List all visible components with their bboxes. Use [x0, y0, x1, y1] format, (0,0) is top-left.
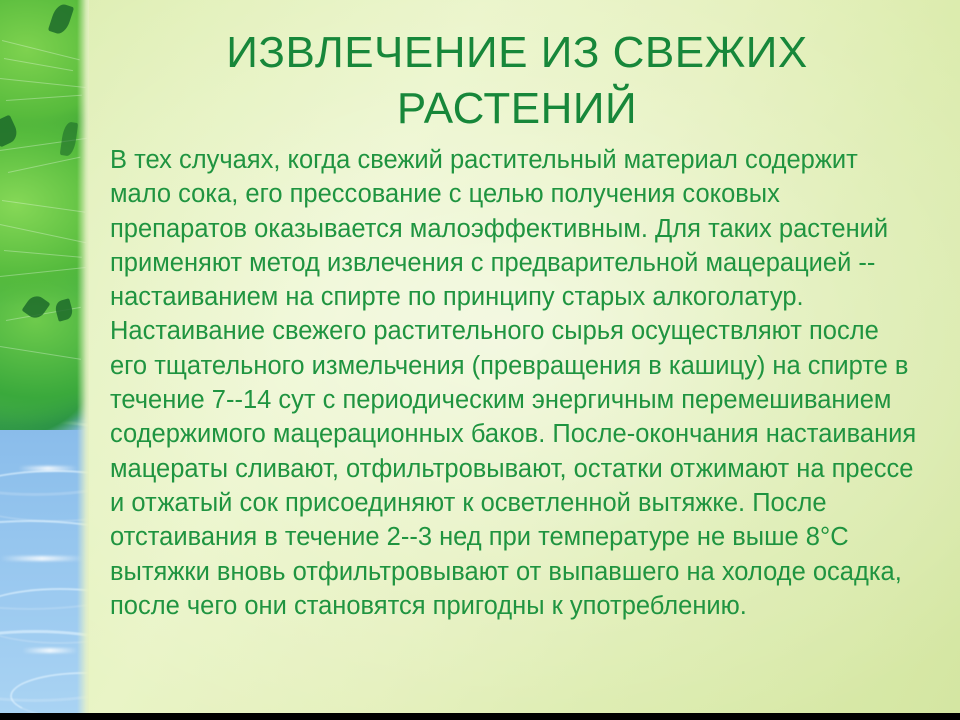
bottom-black-bar [0, 713, 960, 720]
water-highlight [0, 556, 84, 561]
leaf-shadow [54, 298, 75, 321]
leaf-vein [0, 346, 81, 360]
leaf-shadow [48, 2, 74, 36]
leaf-vein [4, 250, 82, 258]
leaf-vein [2, 40, 80, 60]
slide-title: ИЗВЛЕЧЕНИЕ ИЗ СВЕЖИХ РАСТЕНИЙ [92, 25, 942, 137]
leaf-shadow [60, 121, 79, 157]
leaf-vein [0, 267, 86, 277]
water-highlight [18, 466, 78, 471]
leaf-vein [0, 78, 86, 88]
leaf-vein [8, 157, 81, 173]
leaf-shadow [0, 115, 20, 148]
presentation-slide: ИЗВЛЕЧЕНИЕ ИЗ СВЕЖИХ РАСТЕНИЙ В тех случ… [0, 0, 960, 720]
leaf-photo [0, 0, 89, 430]
water-ripple [0, 470, 89, 522]
slide-body-text: В тех случаях, когда свежий растительный… [110, 143, 922, 623]
left-decorative-photo-strip [0, 0, 89, 713]
leaf-vein [0, 224, 86, 243]
leaf-vein [6, 95, 82, 101]
leaf-vein [4, 58, 73, 71]
water-highlight [22, 648, 78, 653]
leaf-vein [2, 200, 85, 213]
strip-edge-fade [77, 0, 89, 713]
